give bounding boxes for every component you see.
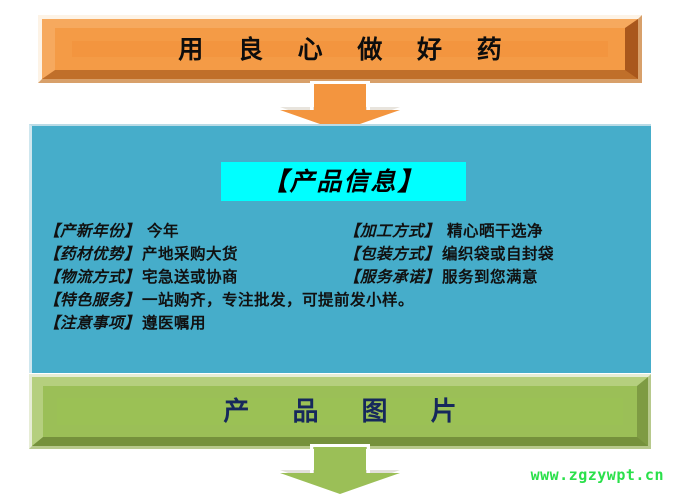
down-arrow-green-shaft-edge — [310, 444, 370, 474]
product-image-banner-text: 产 品 图 片 — [206, 399, 473, 425]
info-row: 【物流方式】 宅急送或协商 【服务承诺】 服务到您满意 — [44, 265, 644, 288]
info-cell-left: 【特色服务】 一站购齐，专注批发，可提前发小样。 — [44, 288, 414, 310]
down-arrow-orange-shaft-edge — [310, 81, 370, 111]
headline-text: 用 良 心 做 好 药 — [165, 37, 515, 62]
down-arrow-green-icon — [280, 447, 400, 493]
info-cell-right: 【包装方式】 编织袋或自封袋 — [344, 242, 644, 264]
info-row: 【药材优势】 产地采购大货 【包装方式】 编织袋或自封袋 — [44, 242, 644, 265]
info-value: 精心晒干选净 — [447, 219, 543, 241]
headline-banner-face: 用 良 心 做 好 药 — [72, 41, 608, 57]
info-label: 【特色服务】 — [44, 288, 140, 310]
info-label: 【服务承诺】 — [344, 265, 440, 287]
info-value: 编织袋或自封袋 — [442, 242, 554, 264]
info-cell-left: 【注意事项】 遵医嘱用 — [44, 311, 206, 333]
down-arrow-green-head — [280, 473, 400, 494]
info-row: 【产新年份】 今年 【加工方式】 精心晒干选净 — [44, 219, 644, 242]
info-value: 产地采购大货 — [142, 242, 238, 264]
info-cell-left: 【产新年份】 今年 — [44, 219, 344, 241]
info-label: 【加工方式】 — [344, 219, 440, 241]
info-cell-right: 【加工方式】 精心晒干选净 — [344, 219, 644, 241]
info-value: 一站购齐，专注批发，可提前发小样。 — [142, 288, 414, 310]
info-row: 【注意事项】 遵医嘱用 — [44, 311, 644, 334]
info-label: 【注意事项】 — [44, 311, 140, 333]
product-image-banner: 产 品 图 片 — [29, 374, 651, 449]
info-cell-left: 【物流方式】 宅急送或协商 — [44, 265, 344, 287]
product-info-title-text: 【产品信息】 — [262, 169, 424, 194]
product-info-rows: 【产新年份】 今年 【加工方式】 精心晒干选净 【药材优势】 产地采购大货 【包… — [44, 219, 644, 334]
info-value: 今年 — [147, 219, 179, 241]
page-root: 用 良 心 做 好 药 【产品信息】 【产新年份】 今年 【加工方式】 精心晒干… — [0, 0, 680, 500]
headline-banner: 用 良 心 做 好 药 — [38, 15, 642, 83]
info-value: 宅急送或协商 — [142, 265, 238, 287]
info-cell-right: 【服务承诺】 服务到您满意 — [344, 265, 644, 287]
info-value: 服务到您满意 — [442, 265, 538, 287]
info-label: 【产新年份】 — [44, 219, 140, 241]
watermark-url: www.zgzywpt.cn — [531, 466, 664, 484]
product-image-banner-inner-frame: 产 品 图 片 — [32, 377, 648, 446]
product-image-banner-face: 产 品 图 片 — [57, 398, 623, 425]
info-cell-left: 【药材优势】 产地采购大货 — [44, 242, 344, 264]
product-info-title-badge: 【产品信息】 — [221, 162, 466, 201]
info-row: 【特色服务】 一站购齐，专注批发，可提前发小样。 — [44, 288, 644, 311]
info-label: 【物流方式】 — [44, 265, 140, 287]
info-value: 遵医嘱用 — [142, 311, 206, 333]
info-label: 【包装方式】 — [344, 242, 440, 264]
info-label: 【药材优势】 — [44, 242, 140, 264]
headline-banner-inner-frame: 用 良 心 做 好 药 — [42, 19, 638, 79]
